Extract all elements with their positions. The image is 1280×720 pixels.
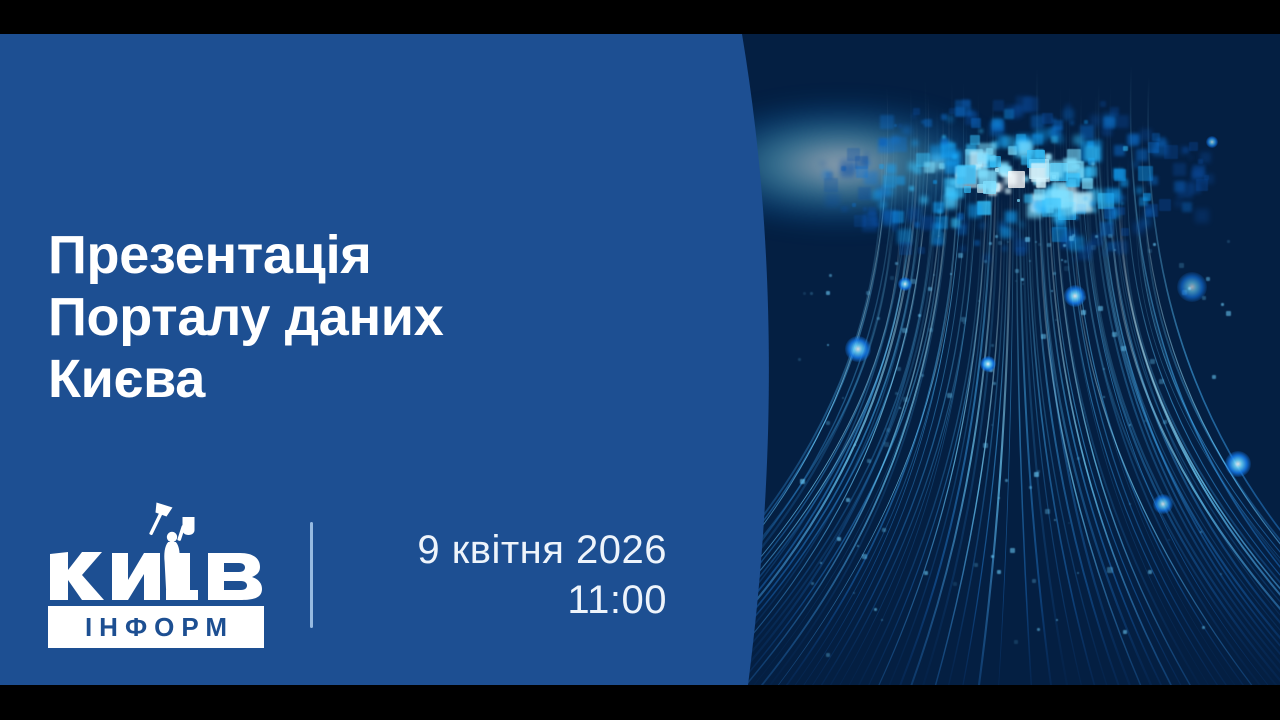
kyiv-inform-logo: ІНФОРМ xyxy=(48,502,264,648)
slide-frame: Презентація Порталу даних Києва xyxy=(0,34,1280,685)
slide-footer: ІНФОРМ 9 квітня 2026 11:00 xyxy=(48,500,708,650)
slide-stage: Презентація Порталу даних Києва xyxy=(0,0,1280,720)
logo-subtitle-bar: ІНФОРМ xyxy=(48,606,264,648)
footer-divider xyxy=(310,522,313,628)
logo-subtitle-text: ІНФОРМ xyxy=(78,614,234,640)
event-time: 11:00 xyxy=(367,575,667,625)
logo-wordmark-kyiv xyxy=(48,550,264,602)
slide-content: Презентація Порталу даних Києва xyxy=(0,34,760,685)
event-date: 9 квітня 2026 xyxy=(367,525,667,575)
letterbox-bar-bottom xyxy=(0,685,1280,720)
page-title: Презентація Порталу даних Києва xyxy=(48,224,688,410)
letterbox-bar-top xyxy=(0,0,1280,34)
event-datetime: 9 квітня 2026 11:00 xyxy=(367,525,667,625)
